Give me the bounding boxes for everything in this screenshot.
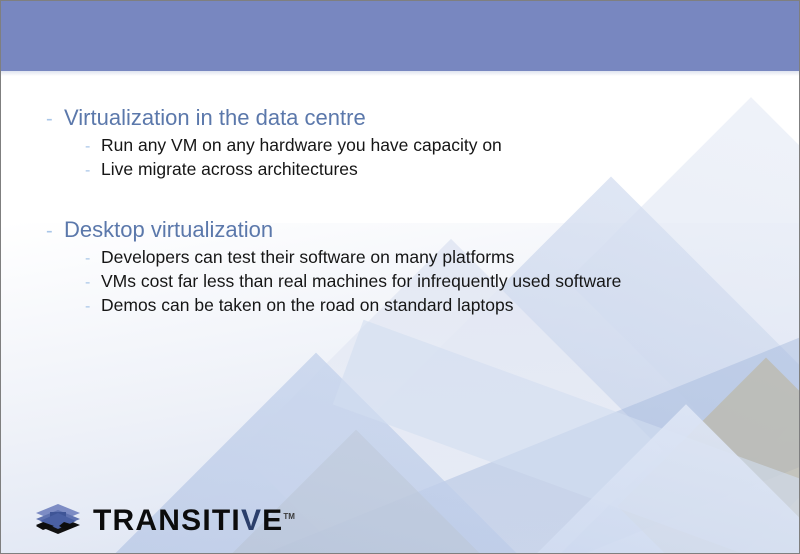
stacked-diamond-logo-icon bbox=[34, 502, 84, 540]
bullet-dash-icon: - bbox=[46, 108, 64, 131]
brand-logo: TRANSITIVETM bbox=[34, 502, 295, 540]
bullet-level2-label: VMs cost far less than real machines for… bbox=[101, 271, 621, 292]
wordmark-part1: TRANSITI bbox=[93, 504, 241, 537]
title-underline bbox=[1, 71, 800, 76]
trademark-symbol: TM bbox=[283, 512, 295, 521]
presentation-slide: How do we see this being used? - Virtual… bbox=[0, 0, 800, 554]
bullet-level2: - VMs cost far less than real machines f… bbox=[1, 271, 800, 292]
bullet-level1-label: Virtualization in the data centre bbox=[64, 105, 366, 131]
bullet-dash-icon: - bbox=[85, 250, 101, 268]
background-diamond-5 bbox=[618, 358, 799, 553]
bullet-level2: - Developers can test their software on … bbox=[1, 247, 800, 268]
background-band-2 bbox=[333, 320, 799, 553]
bullet-dash-icon: - bbox=[85, 138, 101, 156]
brand-wordmark: TRANSITIVETM bbox=[93, 506, 295, 536]
bullet-level2-label: Demos can be taken on the road on standa… bbox=[101, 295, 514, 316]
bullet-dash-icon: - bbox=[46, 220, 64, 243]
wordmark-accent: V bbox=[241, 504, 262, 537]
bullet-level1: - Desktop virtualization bbox=[1, 217, 800, 243]
bullet-level2-label: Run any VM on any hardware you have capa… bbox=[101, 135, 502, 156]
title-bar bbox=[1, 1, 800, 71]
bullet-group-spacer bbox=[1, 183, 800, 217]
bullet-level2: - Run any VM on any hardware you have ca… bbox=[1, 135, 800, 156]
bullet-dash-icon: - bbox=[85, 162, 101, 180]
slide-body: - Virtualization in the data centre - Ru… bbox=[1, 105, 800, 319]
bullet-level1-label: Desktop virtualization bbox=[64, 217, 273, 243]
bullet-dash-icon: - bbox=[85, 274, 101, 292]
wordmark-part2: E bbox=[262, 504, 283, 537]
bullet-level2: - Live migrate across architectures bbox=[1, 159, 800, 180]
bullet-dash-icon: - bbox=[85, 298, 101, 316]
bullet-level1: - Virtualization in the data centre bbox=[1, 105, 800, 131]
bullet-level2-label: Live migrate across architectures bbox=[101, 159, 358, 180]
bullet-level2: - Demos can be taken on the road on stan… bbox=[1, 295, 800, 316]
bullet-level2-label: Developers can test their software on ma… bbox=[101, 247, 514, 268]
background-diamond-6 bbox=[509, 404, 799, 553]
